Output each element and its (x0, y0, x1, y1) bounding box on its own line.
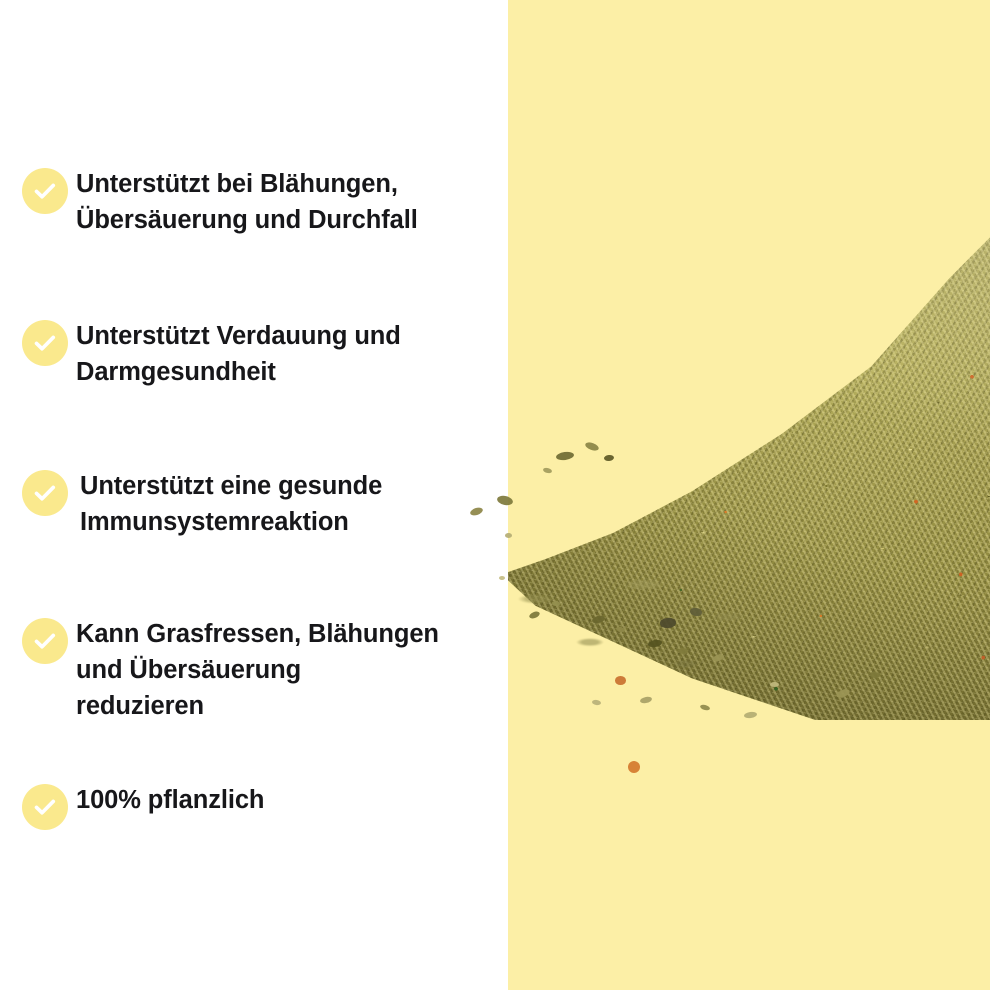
herb-speck (615, 676, 626, 685)
check-circle-icon (22, 784, 68, 830)
feature-label: Unterstützt Verdauung und Darmgesundheit (76, 318, 401, 390)
feature-item: 100% pflanzlich (22, 782, 502, 830)
herb-mound-wrap (508, 0, 990, 990)
feature-label: Unterstützt bei Blähungen, Übersäuerung … (76, 166, 418, 238)
feature-label: 100% pflanzlich (76, 782, 264, 818)
herb-speck (770, 682, 779, 687)
herb-mound (508, 200, 990, 720)
feature-item: Kann Grasfressen, Blähungen und Übersäue… (22, 616, 502, 724)
feature-item: Unterstützt Verdauung und Darmgesundheit (22, 318, 502, 390)
check-circle-icon (22, 168, 68, 214)
herb-speck (628, 761, 640, 773)
herb-mound-sheen (508, 200, 990, 720)
feature-item: Unterstützt eine gesunde Immunsystemreak… (22, 468, 502, 540)
feature-label: Unterstützt eine gesunde Immunsystemreak… (80, 468, 382, 540)
feature-list: Unterstützt bei Blähungen, Übersäuerung … (0, 0, 512, 990)
promo-graphic: Unterstützt bei Blähungen, Übersäuerung … (0, 0, 990, 990)
feature-item: Unterstützt bei Blähungen, Übersäuerung … (22, 166, 502, 238)
check-circle-icon (22, 320, 68, 366)
product-image-herb-powder (508, 0, 990, 990)
check-circle-icon (22, 618, 68, 664)
check-circle-icon (22, 470, 68, 516)
feature-label: Kann Grasfressen, Blähungen und Übersäue… (76, 616, 439, 724)
